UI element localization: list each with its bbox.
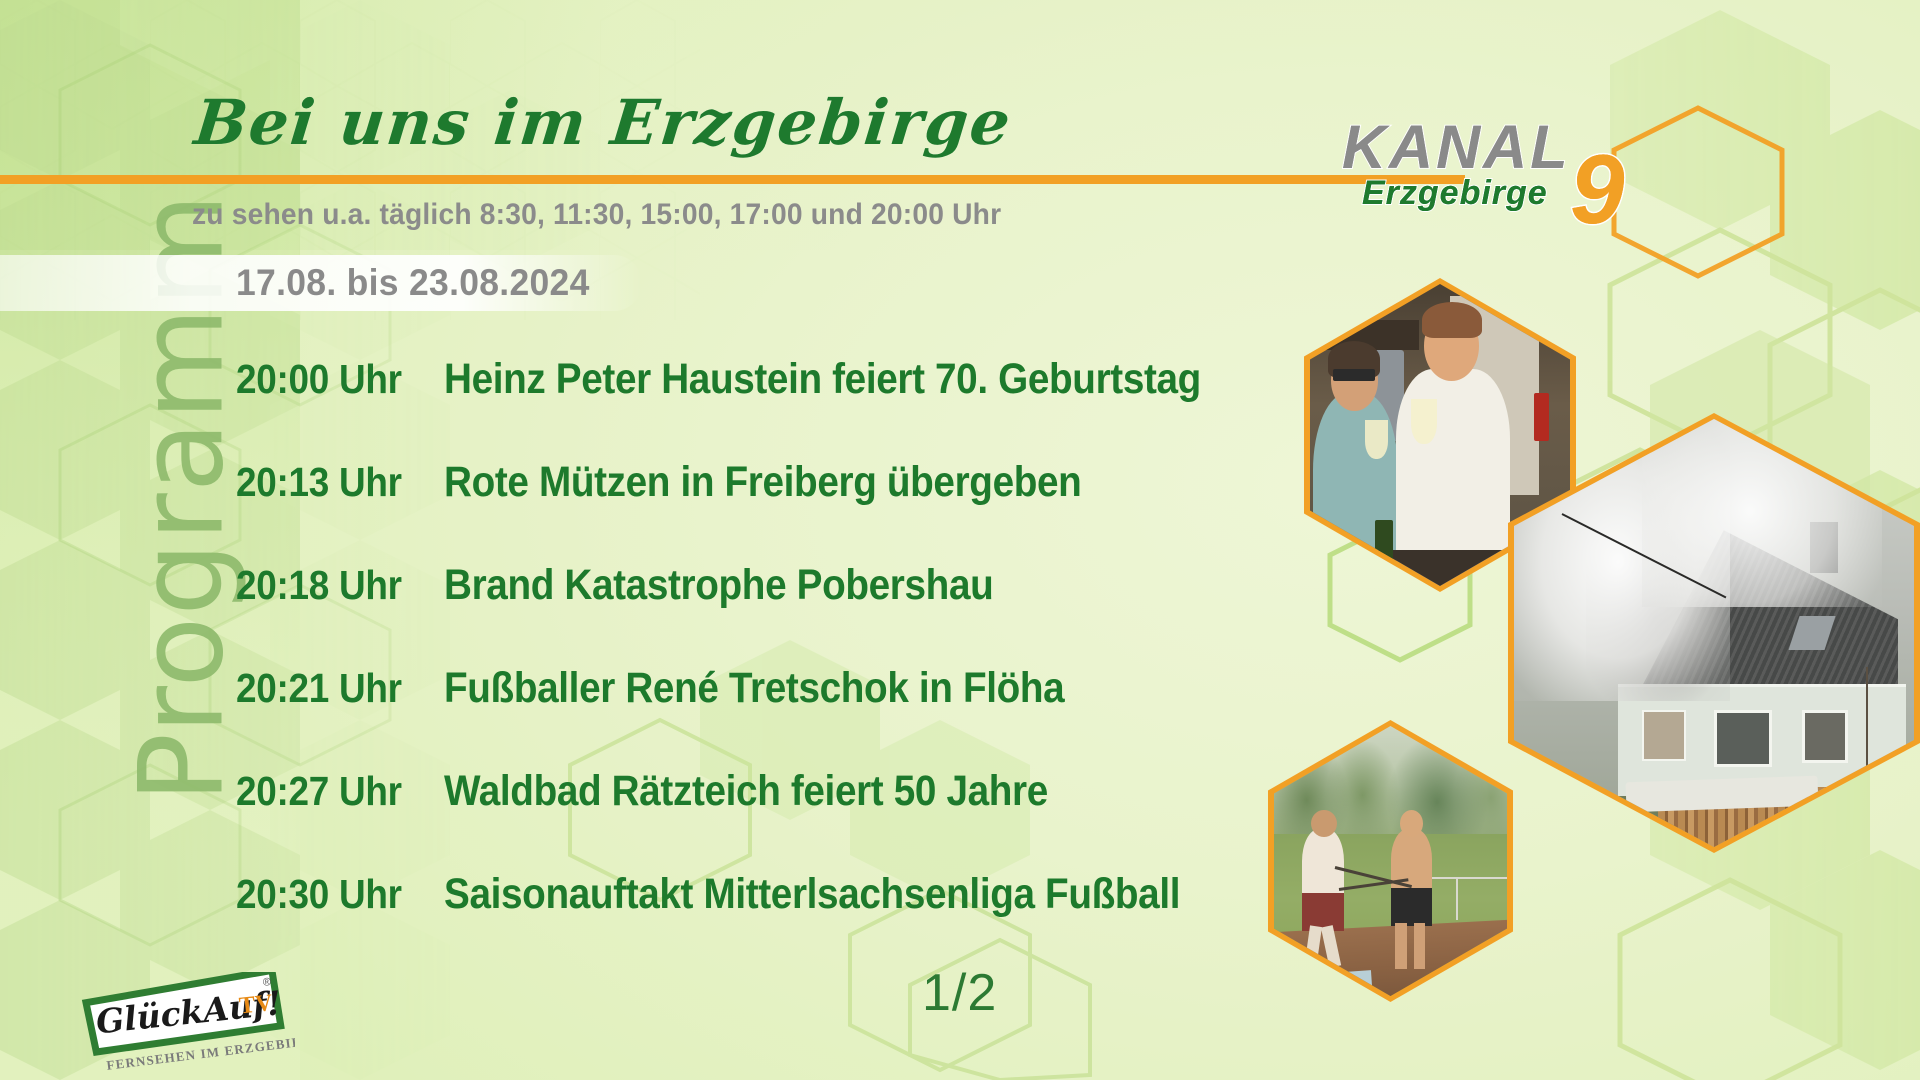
program-title: Brand Katastrophe Pobershau xyxy=(444,561,993,610)
program-time: 20:30 Uhr xyxy=(236,871,423,918)
program-title: Fußballer René Tretschok in Flöha xyxy=(444,664,1064,713)
photo-brand-pobershau[interactable] xyxy=(1508,413,1920,853)
channel-number: 9 xyxy=(1570,140,1625,238)
program-row[interactable]: 20:18 Uhr Brand Katastrophe Pobershau xyxy=(236,561,1296,664)
photo-scene-waldbad xyxy=(1274,726,1507,996)
program-row[interactable]: 20:13 Uhr Rote Mützen in Freiberg überge… xyxy=(236,458,1296,561)
program-time: 20:00 Uhr xyxy=(236,356,423,403)
program-time: 20:18 Uhr xyxy=(236,562,423,609)
date-range-text: 17.08. bis 23.08.2024 xyxy=(236,262,590,304)
tv-suffix: TV xyxy=(238,990,275,1019)
photo-scene-housefire xyxy=(1514,419,1914,847)
kanal9-logo: KANAL KANAL 9 9 Erzgebirge Erzgebirge xyxy=(1342,112,1662,232)
program-row[interactable]: 20:27 Uhr Waldbad Rätzteich feiert 50 Ja… xyxy=(236,767,1296,870)
program-title: Saisonauftakt Mitterlsachsenliga Fußball xyxy=(444,870,1180,919)
program-row[interactable]: 20:30 Uhr Saisonauftakt Mitterlsachsenli… xyxy=(236,870,1296,973)
hex-photo-clip xyxy=(1514,419,1914,847)
program-row[interactable]: 20:21 Uhr Fußballer René Tretschok in Fl… xyxy=(236,664,1296,767)
kanal-wordmark: KANAL xyxy=(1342,112,1570,182)
page-indicator: 1/2 xyxy=(922,963,997,1023)
broadcast-times-subtitle: zu sehen u.a. täglich 8:30, 11:30, 15:00… xyxy=(192,198,1001,232)
program-title: Waldbad Rätzteich feiert 50 Jahre xyxy=(444,767,1048,816)
program-slide: Programm Bei uns im Erzgebirge zu sehen … xyxy=(0,0,1920,1080)
program-time: 20:21 Uhr xyxy=(236,665,423,712)
program-title: Rote Mützen in Freiberg übergeben xyxy=(444,458,1081,507)
program-list: 20:00 Uhr Heinz Peter Haustein feiert 70… xyxy=(236,355,1296,973)
page-title: Bei uns im Erzgebirge xyxy=(191,86,1015,159)
region-wordmark: Erzgebirge xyxy=(1362,174,1548,213)
photo-waldbad-raetzteich[interactable] xyxy=(1268,720,1513,1002)
program-row[interactable]: 20:00 Uhr Heinz Peter Haustein feiert 70… xyxy=(236,355,1296,458)
registered-mark: ® xyxy=(262,976,271,989)
program-time: 20:13 Uhr xyxy=(236,459,423,506)
program-title: Heinz Peter Haustein feiert 70. Geburtst… xyxy=(444,355,1201,404)
glueckauf-tv-logo: GlückAuf! TV ® FERNSEHEN IM ERZGEBIRGE xyxy=(80,972,295,1070)
program-time: 20:27 Uhr xyxy=(236,768,423,815)
hex-photo-clip xyxy=(1274,726,1507,996)
title-divider xyxy=(0,175,1465,184)
date-range-badge: 17.08. bis 23.08.2024 xyxy=(0,255,642,311)
